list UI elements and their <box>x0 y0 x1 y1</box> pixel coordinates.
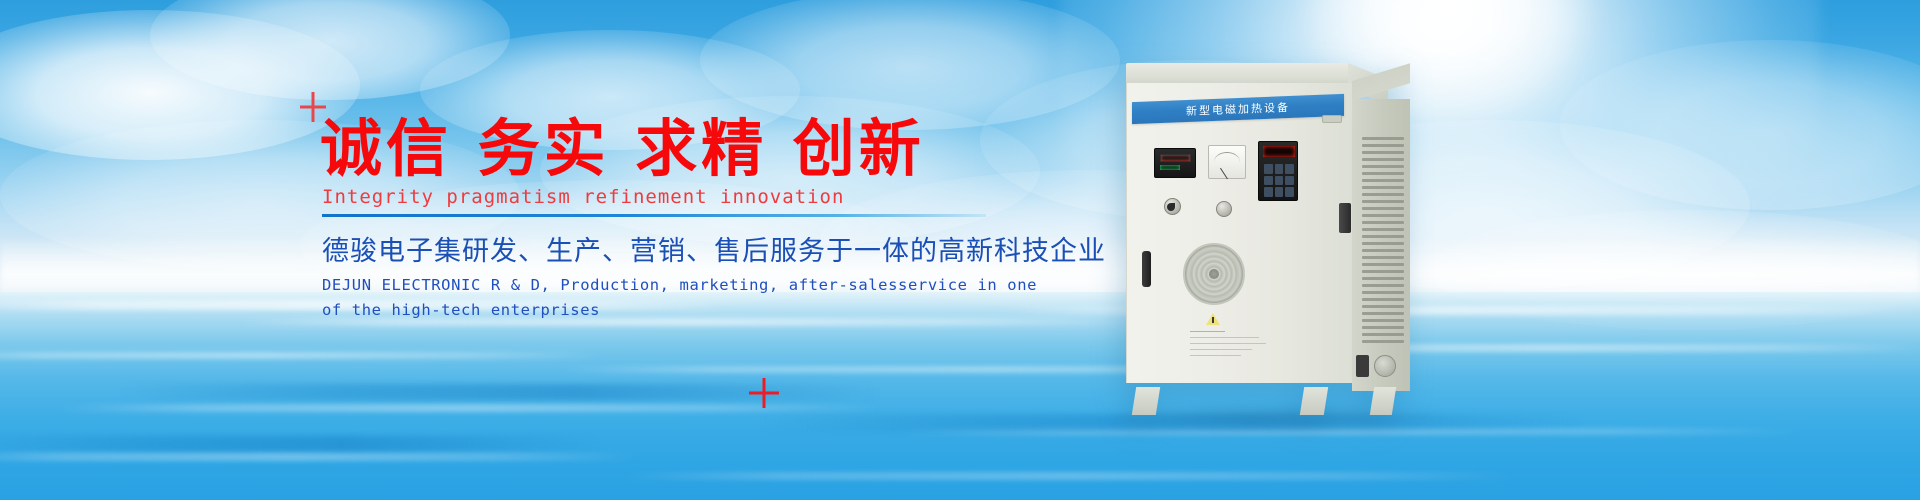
machine-top-lid <box>1126 63 1352 85</box>
plus-decoration-icon <box>749 378 779 408</box>
machine-door-handle <box>1142 251 1151 287</box>
divider <box>322 214 986 217</box>
machine-vent-louvers <box>1362 137 1404 347</box>
machine-foot <box>1132 387 1160 415</box>
machine-side-handle <box>1339 203 1351 233</box>
control-keypad <box>1258 141 1298 201</box>
safety-notice-plate <box>1190 331 1278 367</box>
machine-latch-icon <box>1322 115 1342 123</box>
machine-foot <box>1300 387 1328 415</box>
banner-copy: 诚信 务实 求精 创新 Integrity pragmatism refinem… <box>0 0 1100 500</box>
selector-knob <box>1164 198 1181 215</box>
exhaust-fan-icon <box>1183 243 1245 305</box>
digital-temperature-controller <box>1154 148 1196 178</box>
machine-round-port <box>1374 355 1396 377</box>
subheadline-english-line-2: of the high-tech enterprises <box>322 298 1037 323</box>
machine-foot <box>1370 387 1396 415</box>
subheadline-english-line-1: DEJUN ELECTRONIC R & D, Production, mark… <box>322 273 1037 298</box>
machine-cable-port <box>1356 355 1369 377</box>
analog-ammeter <box>1208 145 1246 179</box>
subheadline-chinese: 德骏电子集研发、生产、营销、售后服务于一体的高新科技企业 <box>322 236 1106 268</box>
headline-chinese: 诚信 务实 求精 创新 <box>320 118 925 180</box>
headline-english: Integrity pragmatism refinement innovati… <box>322 186 844 208</box>
subheadline-english: DEJUN ELECTRONIC R & D, Production, mark… <box>322 273 1037 323</box>
adjust-knob <box>1216 201 1232 217</box>
high-voltage-warning-icon <box>1206 313 1220 325</box>
promo-banner: 诚信 务实 求精 创新 Integrity pragmatism refinem… <box>0 0 1920 500</box>
product-image-heating-equipment: 新型电磁加热设备 <box>1126 63 1426 413</box>
